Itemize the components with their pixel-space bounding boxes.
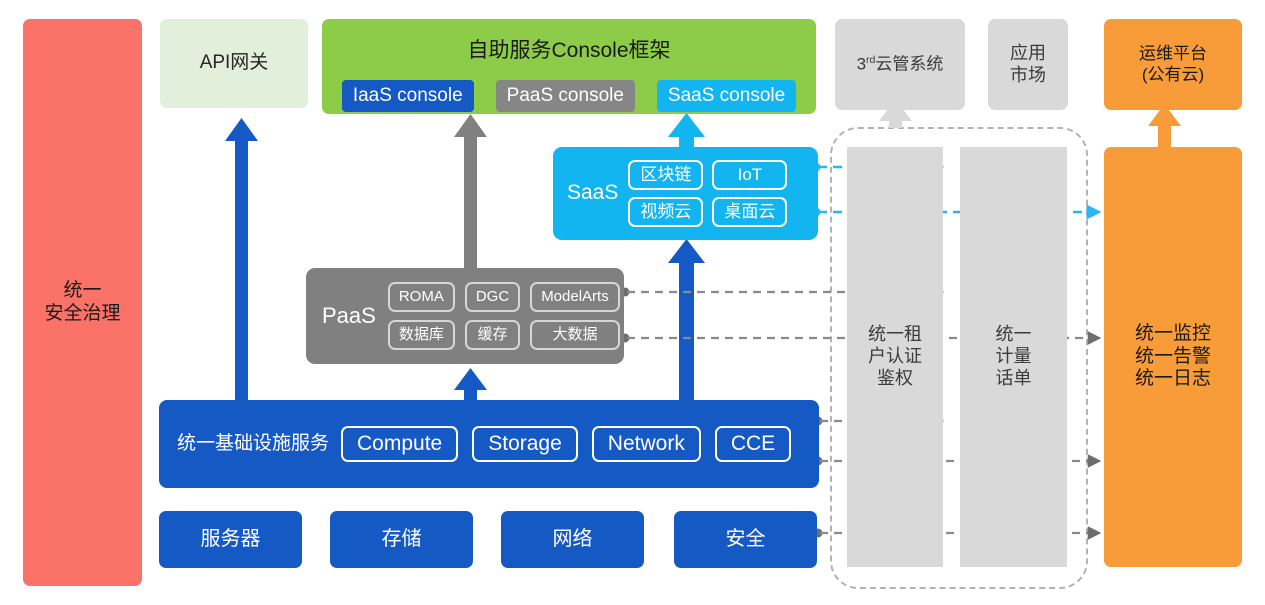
third-party-num: 3: [857, 55, 866, 74]
infra-chip-cce[interactable]: CCE: [715, 426, 791, 463]
infra-chip-compute[interactable]: Compute: [341, 426, 458, 463]
arrow-infra-to-api-gateway: [225, 118, 258, 402]
paas-chip-cache[interactable]: 缓存: [465, 320, 520, 350]
paas-chip-database[interactable]: 数据库: [388, 320, 455, 350]
infra-chip-row: Compute Storage Network CCE: [341, 426, 791, 463]
console-chip-iaas[interactable]: IaaS console: [342, 80, 474, 112]
arrow-saas-to-saas-console: [668, 113, 705, 150]
saas-chip-blockchain[interactable]: 区块链: [628, 160, 703, 190]
unified-monitoring-column[interactable]: 统一监控 统一告警 统一日志: [1104, 147, 1242, 567]
resource-box-storage[interactable]: 存储: [330, 511, 473, 568]
paas-box[interactable]: PaaS ROMA DGC ModelArts 数据库 缓存 大数据: [306, 268, 624, 364]
app-market-box[interactable]: 应用 市场: [988, 19, 1068, 110]
saas-chip-desktop-cloud[interactable]: 桌面云: [712, 197, 787, 227]
resource-box-security[interactable]: 安全: [674, 511, 817, 568]
saas-label: SaaS: [567, 181, 618, 206]
architecture-diagram: 统一 安全治理 API网关 自助服务Console框架 IaaS console…: [0, 0, 1265, 605]
arrow-infra-to-paas: [454, 368, 487, 402]
console-chip-saas[interactable]: SaaS console: [657, 80, 796, 112]
infra-chip-storage[interactable]: Storage: [472, 426, 578, 463]
paas-chip-grid: ROMA DGC ModelArts 数据库 缓存 大数据: [388, 282, 620, 349]
arrow-infra-to-saas: [668, 239, 705, 402]
saas-chip-grid: 区块链 IoT 视频云 桌面云: [628, 160, 787, 227]
saas-box[interactable]: SaaS 区块链 IoT 视频云 桌面云: [553, 147, 818, 240]
arrow-paas-to-console: [454, 114, 487, 270]
saas-chip-iot[interactable]: IoT: [712, 160, 787, 190]
paas-chip-bigdata[interactable]: 大数据: [530, 320, 620, 350]
console-framework-box[interactable]: 自助服务Console框架 IaaS console PaaS console …: [322, 19, 816, 114]
resource-box-server[interactable]: 服务器: [159, 511, 302, 568]
arrow-monitor-to-ops-platform: [1148, 104, 1181, 148]
paas-label: PaaS: [322, 303, 376, 329]
unified-billing-column[interactable]: 统一 计量 话单: [960, 147, 1067, 567]
third-party-cloud-mgmt-box[interactable]: 3rd云管系统: [835, 19, 965, 110]
paas-chip-dgc[interactable]: DGC: [465, 282, 520, 312]
infra-chip-network[interactable]: Network: [592, 426, 701, 463]
api-gateway-box[interactable]: API网关: [160, 19, 308, 108]
third-party-label: 3rd云管系统: [857, 54, 944, 75]
ops-platform-box[interactable]: 运维平台 (公有云): [1104, 19, 1242, 110]
infra-label: 统一基础设施服务: [177, 433, 329, 455]
saas-chip-video-cloud[interactable]: 视频云: [628, 197, 703, 227]
console-chip-row: IaaS console PaaS console SaaS console: [342, 80, 796, 112]
console-framework-title: 自助服务Console框架: [467, 39, 670, 64]
console-chip-paas[interactable]: PaaS console: [496, 80, 635, 112]
third-party-main: 云管系统: [875, 55, 943, 74]
unified-auth-column[interactable]: 统一租 户认证 鉴权: [847, 147, 943, 567]
resource-box-network[interactable]: 网络: [501, 511, 644, 568]
security-governance-band[interactable]: 统一 安全治理: [23, 19, 142, 586]
paas-chip-modelarts[interactable]: ModelArts: [530, 282, 620, 312]
unified-infrastructure-bar[interactable]: 统一基础设施服务 Compute Storage Network CCE: [159, 400, 819, 488]
paas-chip-roma[interactable]: ROMA: [388, 282, 455, 312]
